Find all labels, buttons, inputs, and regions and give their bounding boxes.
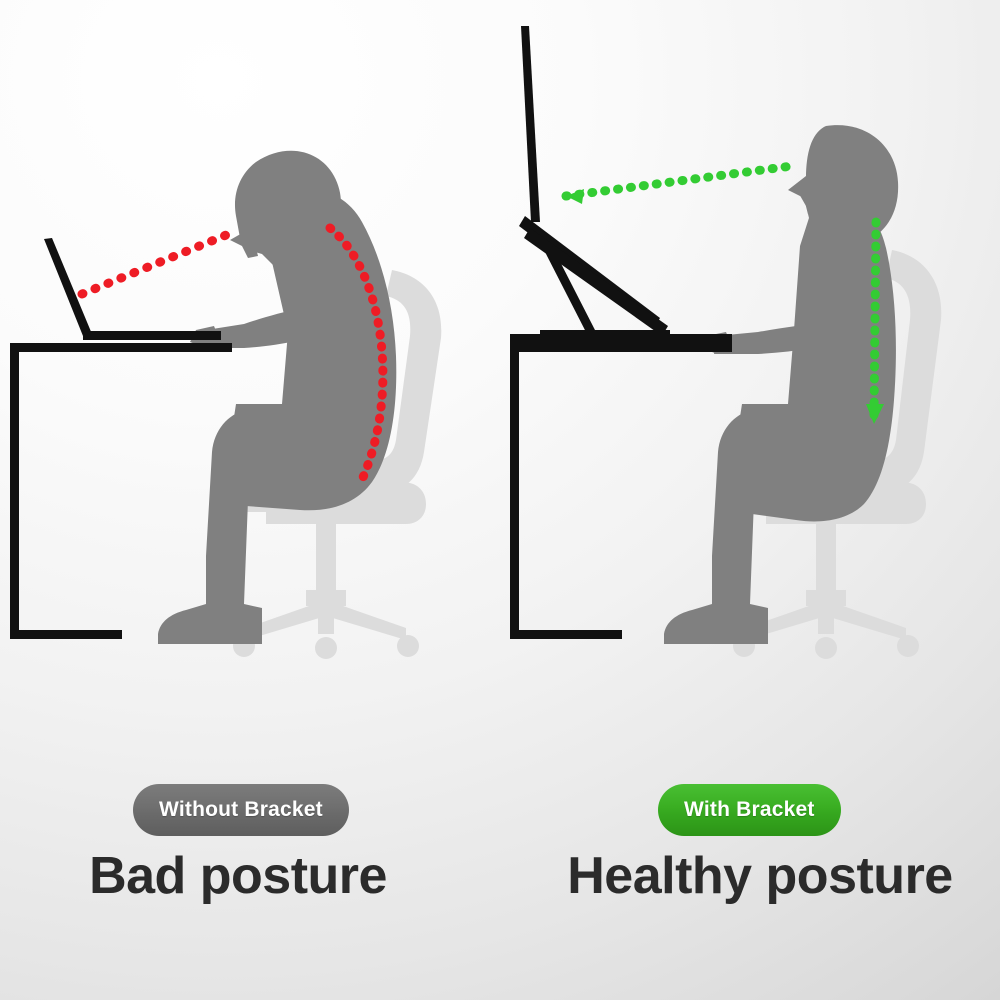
caption-bad-posture: Bad posture [0, 846, 488, 906]
person-healthy-posture [664, 125, 898, 644]
scene-bad-posture [0, 0, 500, 720]
person-bad-posture [158, 151, 396, 644]
scene-healthy-posture [500, 0, 1000, 720]
laptop-good [510, 26, 732, 344]
badge-with-bracket[interactable]: With Bracket [658, 784, 841, 836]
laptop-bad [44, 238, 221, 340]
desk-bad [10, 343, 232, 639]
panel-without-bracket: Without Bracket Bad posture [0, 0, 500, 1000]
panel-with-bracket: With Bracket Healthy posture [500, 0, 1000, 1000]
sight-line-bad [82, 231, 236, 294]
infographic-canvas: Without Bracket Bad posture [0, 0, 1000, 1000]
badge-without-bracket[interactable]: Without Bracket [133, 784, 349, 836]
caption-healthy-posture: Healthy posture [510, 846, 1000, 906]
desk-good [510, 343, 732, 639]
sight-line-good [566, 166, 792, 204]
